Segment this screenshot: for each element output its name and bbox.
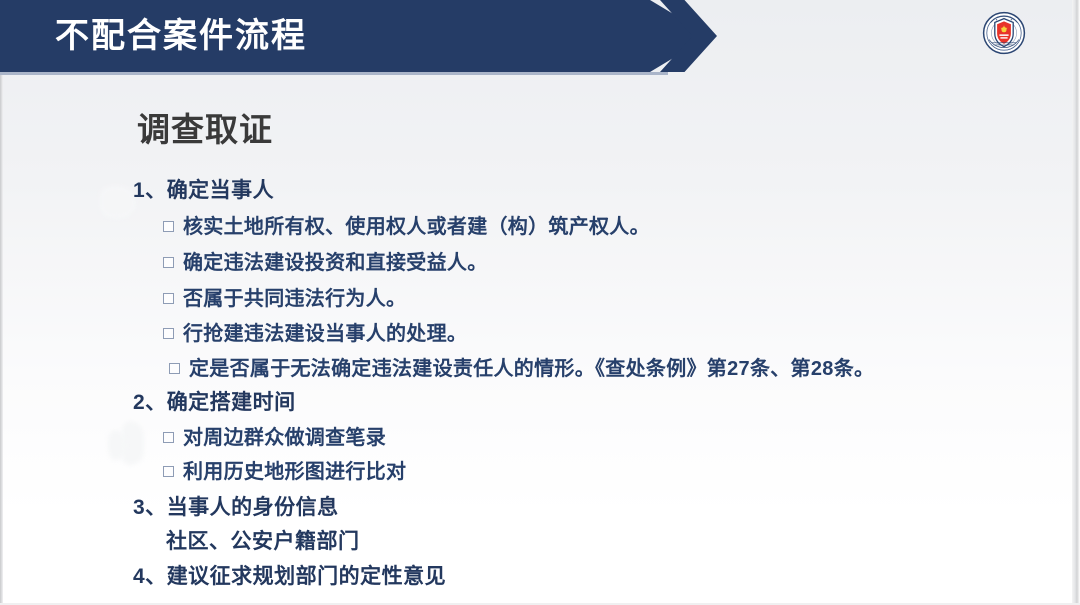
- list-item-2: 2、确定搭建时间: [133, 388, 296, 418]
- subitem-text: 否属于共同违法行为人。: [183, 285, 406, 314]
- checkbox-square-icon: [169, 363, 180, 374]
- item-label: 建议征求规划部门的定性意见: [167, 565, 447, 588]
- list-item: 确定违法建设投资和直接受益人。: [163, 249, 488, 278]
- list-item: 对周边群众做调查笔录: [163, 424, 386, 453]
- slide-body: 调查取证 1、确定当事人 核实土地所有权、使用权人或者建（构）筑产权人。 确定违…: [0, 0, 1080, 605]
- section-title: 调查取证: [137, 108, 273, 152]
- item-number: 3、: [133, 496, 167, 519]
- list-item: 行抢建违法建设当事人的处理。: [163, 320, 467, 349]
- subitem-text: 行抢建违法建设当事人的处理。: [183, 320, 467, 349]
- checkbox-square-icon: [163, 221, 174, 232]
- list-item: 定是否属于无法确定违法建设责任人的情形。《查处条例》第27条、第28条。: [169, 355, 874, 384]
- list-item: 核实土地所有权、使用权人或者建（构）筑产权人。: [163, 213, 650, 242]
- item-number: 4、: [133, 565, 167, 588]
- item-label: 确定当事人: [167, 179, 275, 202]
- list-item: 否属于共同违法行为人。: [163, 285, 406, 314]
- checkbox-square-icon: [163, 293, 174, 304]
- checkbox-square-icon: [163, 466, 174, 477]
- subitem-text: 利用历史地形图进行比对: [183, 458, 406, 487]
- list-item-3: 3、当事人的身份信息: [133, 493, 339, 523]
- list-item: 利用历史地形图进行比对: [163, 458, 406, 487]
- checkbox-square-icon: [163, 257, 174, 268]
- subitem-text: 对周边群众做调查笔录: [183, 424, 386, 453]
- item-number: 2、: [133, 391, 167, 414]
- subitem-text: 确定违法建设投资和直接受益人。: [183, 249, 488, 278]
- slide-canvas: 不配合案件流程 ★ ★: [0, 0, 1080, 605]
- checkbox-square-icon: [163, 432, 174, 443]
- subitem-text: 核实土地所有权、使用权人或者建（构）筑产权人。: [183, 213, 650, 242]
- item-number: 1、: [133, 179, 167, 202]
- list-item-1: 1、确定当事人: [133, 176, 274, 206]
- checkbox-square-icon: [163, 328, 174, 339]
- subitem-plain-text: 社区、公安户籍部门: [166, 527, 360, 557]
- item-label: 确定搭建时间: [167, 391, 296, 414]
- subitem-text: 定是否属于无法确定违法建设责任人的情形。《查处条例》第27条、第28条。: [189, 355, 874, 384]
- list-item-4: 4、建议征求规划部门的定性意见: [133, 562, 446, 592]
- item-label: 当事人的身份信息: [167, 496, 339, 519]
